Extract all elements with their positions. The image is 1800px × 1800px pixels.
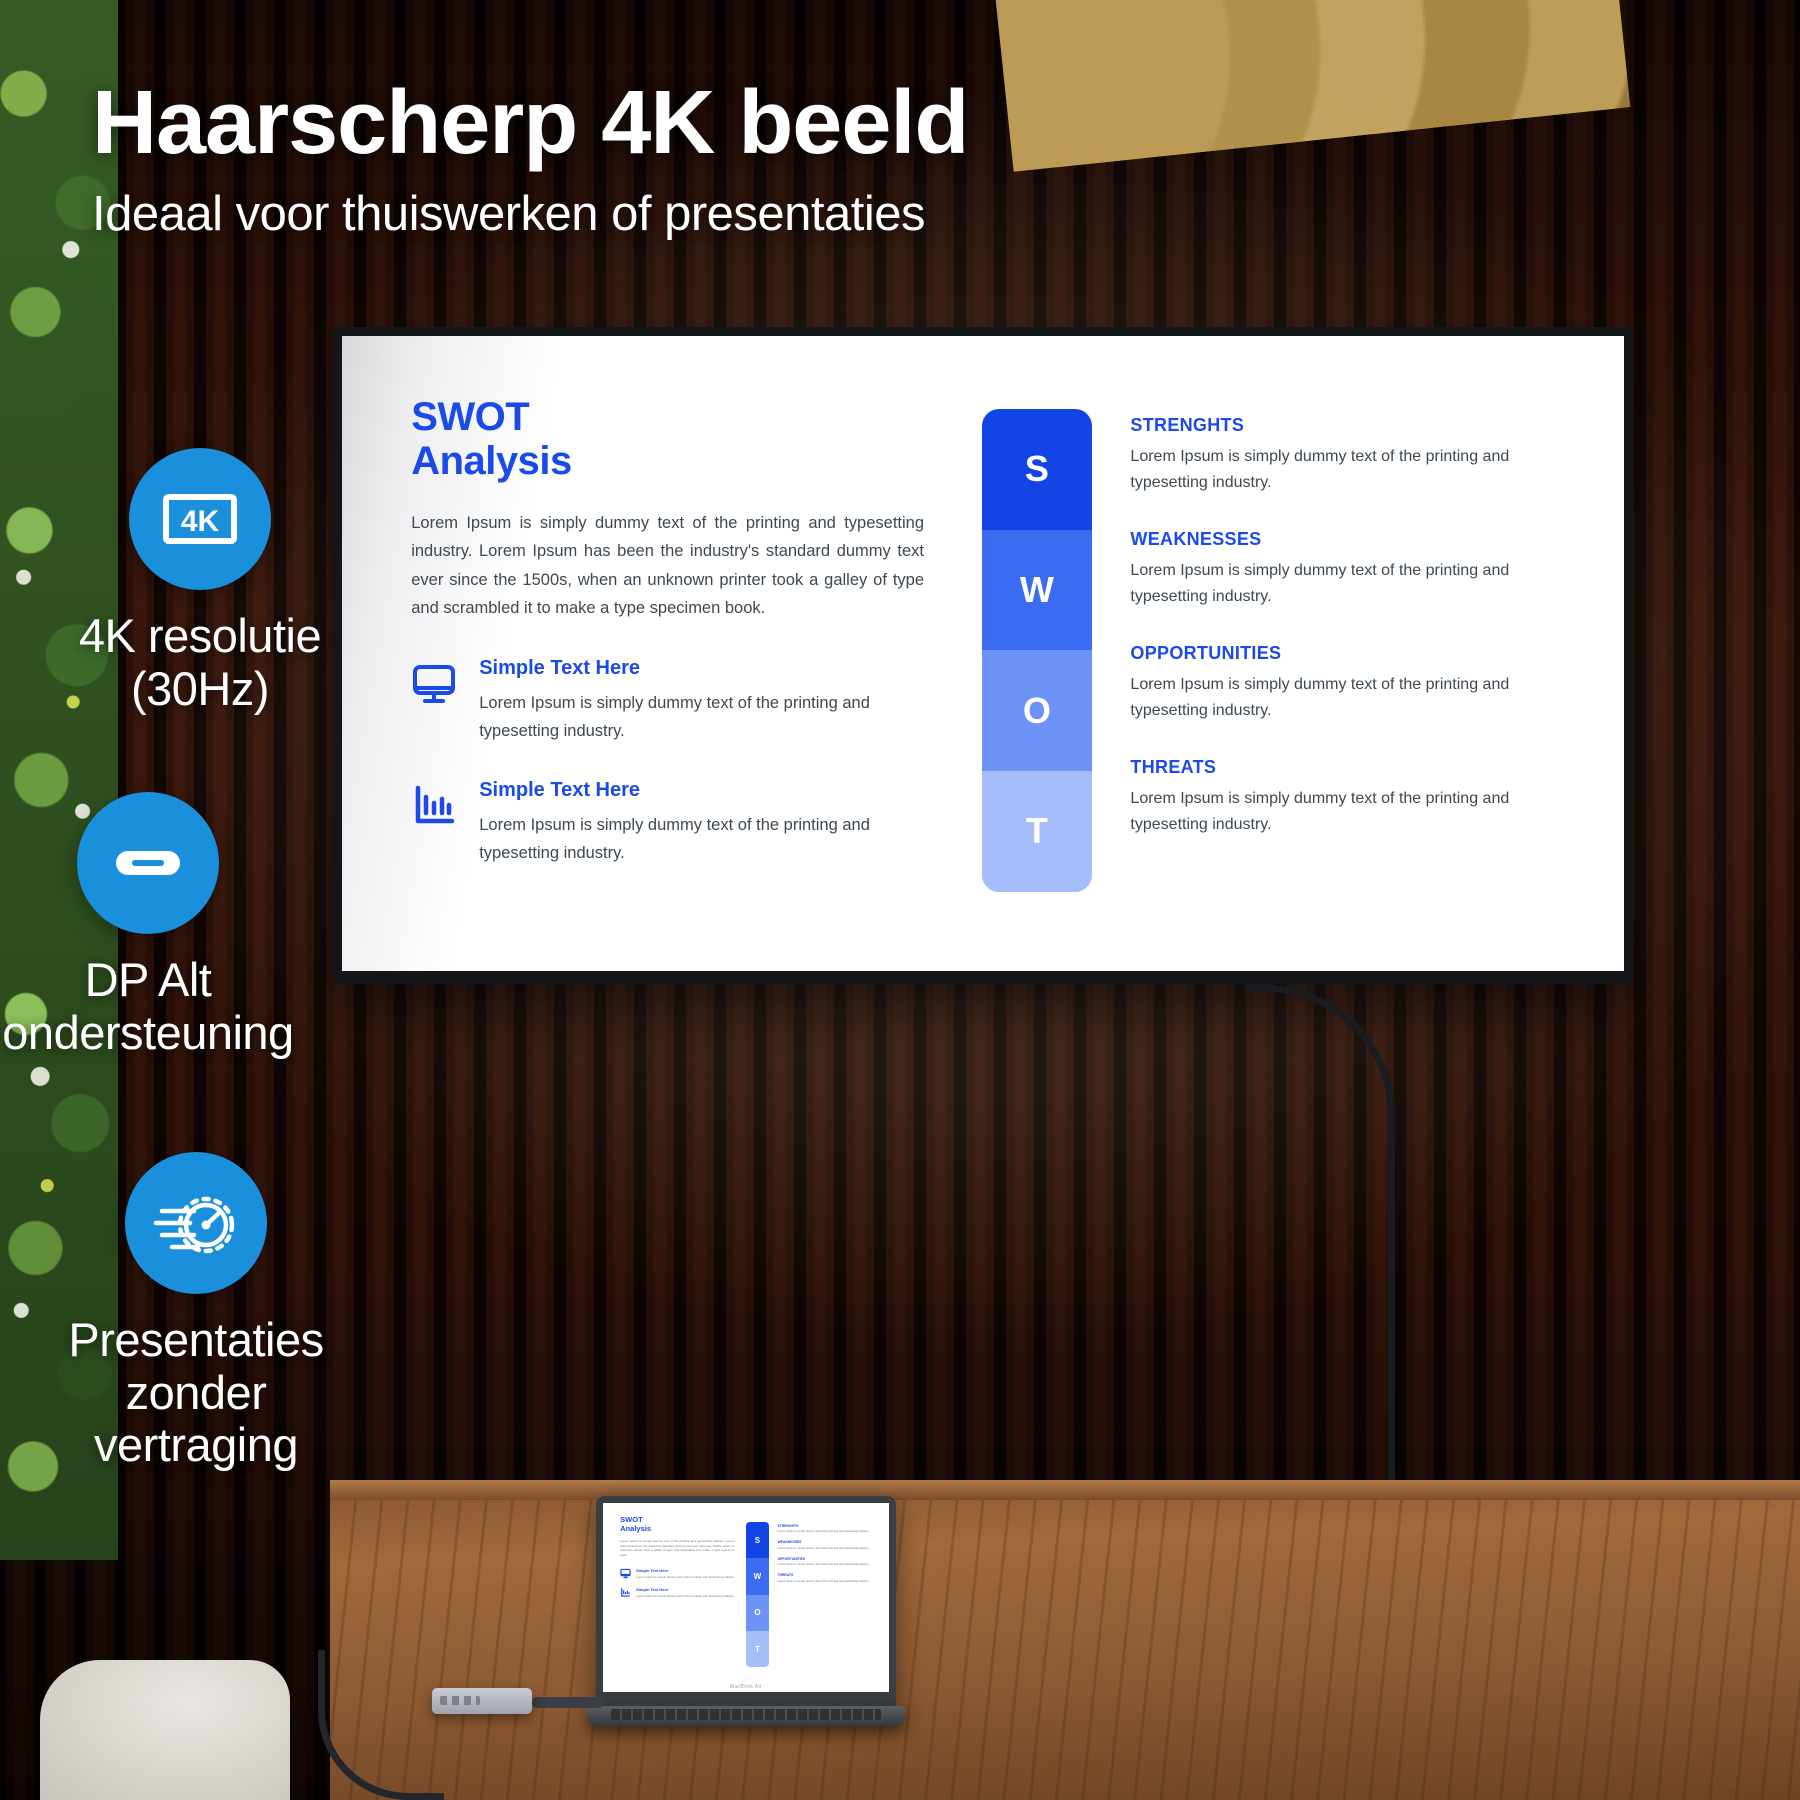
swot-item-strengths: STRENGHTS Lorem Ipsum is simply dummy te…	[1130, 415, 1553, 496]
adapter-ports	[440, 1696, 480, 1705]
laptop-brand-label: MacBook Air	[603, 1684, 889, 1690]
mini-feature-title: Simple Text Here	[636, 1587, 734, 1592]
swot-item-opportunities: OPPORTUNITIES Lorem Ipsum is simply dumm…	[1130, 643, 1553, 724]
swot-heading: WEAKNESSES	[1130, 529, 1553, 550]
mini-feature-title: Simple Text Here	[636, 1568, 734, 1573]
slide-feature-desc: Lorem Ipsum is simply dummy text of the …	[479, 812, 924, 867]
mini-slide-title: SWOT Analysis	[620, 1516, 734, 1533]
swot-tile-w: W	[982, 530, 1092, 651]
mini-swot-tile-s: S	[746, 1522, 769, 1558]
chair	[40, 1660, 290, 1800]
mini-feature-desc: Lorem Ipsum is simply dummy text of the …	[636, 1575, 734, 1579]
swot-body: Lorem Ipsum is simply dummy text of the …	[1130, 558, 1553, 610]
slide-feature-item: Simple Text Here Lorem Ipsum is simply d…	[411, 779, 924, 867]
slide-title-line1: SWOT	[411, 395, 529, 439]
feature-badge-circle: 4K	[129, 448, 271, 590]
swot-heading: STRENGHTS	[1130, 415, 1553, 436]
monitor-icon	[620, 1568, 631, 1579]
feature-badge-circle	[77, 792, 219, 934]
mini-swot-heading: THREATS	[777, 1573, 871, 1577]
slide-feature-text: Simple Text Here Lorem Ipsum is simply d…	[479, 779, 924, 867]
mini-title-line2: Analysis	[620, 1524, 651, 1533]
usb-c-hub-adapter	[432, 1688, 532, 1714]
monitor-icon	[411, 657, 459, 712]
slide-feature-item: Simple Text Here Lorem Ipsum is simply d…	[411, 657, 924, 745]
swot-items-list: STRENGHTS Lorem Ipsum is simply dummy te…	[1130, 415, 1553, 837]
swot-tile-t: T	[982, 771, 1092, 892]
mini-feature-desc: Lorem Ipsum is simply dummy text of the …	[636, 1594, 734, 1598]
feature-label: Presentatieszondervertraging	[0, 1314, 406, 1472]
laptop-base	[587, 1706, 905, 1726]
swot-letter-column: S W O T	[982, 409, 1092, 892]
slide-feature-text: Simple Text Here Lorem Ipsum is simply d…	[479, 657, 924, 745]
slide-left-column: SWOT Analysis Lorem Ipsum is simply dumm…	[411, 396, 924, 867]
slide-feature-title: Simple Text Here	[479, 657, 924, 680]
mini-swot-heading: WEAKNESSES	[777, 1540, 871, 1544]
mini-swot-item-opportunities: OPPORTUNITIES Lorem Ipsum is simply dumm…	[777, 1557, 871, 1567]
slide-feature-title: Simple Text Here	[479, 779, 924, 802]
swot-body: Lorem Ipsum is simply dummy text of the …	[1130, 444, 1553, 496]
swot-slide: SWOT Analysis Lorem Ipsum is simply dumm…	[342, 336, 1624, 971]
mini-swot-body: Lorem Ipsum is simply dummy text of the …	[777, 1546, 871, 1550]
laptop-lid: SWOT Analysis Lorem Ipsum is simply dumm…	[596, 1496, 896, 1706]
svg-text:4K: 4K	[181, 505, 220, 538]
feature-label: DP Altondersteuning	[0, 954, 358, 1059]
mini-slide-paragraph: Lorem Ipsum is simply dummy text of the …	[620, 1539, 734, 1558]
speedometer-icon	[150, 1177, 242, 1269]
mini-swot-body: Lorem Ipsum is simply dummy text of the …	[777, 1579, 871, 1583]
swot-heading: OPPORTUNITIES	[1130, 643, 1553, 664]
slide-feature-desc: Lorem Ipsum is simply dummy text of the …	[479, 690, 924, 745]
mini-swot-item-strengths: STRENGHTS Lorem Ipsum is simply dummy te…	[777, 1524, 871, 1534]
mini-swot-tile-t: T	[746, 1631, 769, 1667]
swot-tile-s: S	[982, 409, 1092, 530]
swot-item-weaknesses: WEAKNESSES Lorem Ipsum is simply dummy t…	[1130, 529, 1553, 610]
wall-cable	[1245, 985, 1395, 1505]
mini-swot-items-list: STRENGHTS Lorem Ipsum is simply dummy te…	[777, 1524, 871, 1583]
mini-swot-heading: STRENGHTS	[777, 1524, 871, 1528]
feature-4k-resolution: 4K 4K resolutie(30Hz)	[0, 448, 410, 715]
swot-body: Lorem Ipsum is simply dummy text of the …	[1130, 672, 1553, 724]
mini-swot-tile-w: W	[746, 1558, 769, 1594]
mini-swot-item-weaknesses: WEAKNESSES Lorem Ipsum is simply dummy t…	[777, 1540, 871, 1550]
feature-dp-alt: DP Altondersteuning	[0, 792, 358, 1059]
feature-low-latency: Presentatieszondervertraging	[0, 1152, 406, 1472]
bar-chart-icon	[620, 1587, 631, 1598]
mini-swot-item-threats: THREATS Lorem Ipsum is simply dummy text…	[777, 1573, 871, 1583]
mini-swot-heading: OPPORTUNITIES	[777, 1557, 871, 1561]
bar-chart-icon	[411, 779, 459, 834]
feature-label: 4K resolutie(30Hz)	[0, 610, 410, 715]
desk-surface	[330, 1482, 1800, 1800]
laptop-keyboard	[611, 1709, 881, 1720]
mini-feature-item: Simple Text Here Lorem Ipsum is simply d…	[620, 1587, 734, 1598]
mini-feature-item: Simple Text Here Lorem Ipsum is simply d…	[620, 1568, 734, 1579]
page-subheadline: Ideaal voor thuiswerken of presentaties	[92, 186, 1352, 242]
mini-swot-letter-column: S W O T	[746, 1522, 769, 1668]
mini-swot-tile-o: O	[746, 1595, 769, 1631]
page-headline: Haarscherp 4K beeld	[92, 78, 1352, 168]
slide-title: SWOT Analysis	[411, 396, 924, 482]
adapter-cable-tail	[532, 1697, 604, 1708]
laptop-screen: SWOT Analysis Lorem Ipsum is simply dumm…	[603, 1503, 889, 1692]
tv-screen: SWOT Analysis Lorem Ipsum is simply dumm…	[342, 336, 1624, 971]
swot-item-threats: THREATS Lorem Ipsum is simply dummy text…	[1130, 757, 1553, 838]
mini-swot-body: Lorem Ipsum is simply dummy text of the …	[777, 1529, 871, 1533]
headline-block: Haarscherp 4K beeld Ideaal voor thuiswer…	[92, 78, 1352, 242]
swot-heading: THREATS	[1130, 757, 1553, 778]
swot-tile-o: O	[982, 650, 1092, 771]
slide-title-line2: Analysis	[411, 439, 572, 483]
tv-monitor: SWOT Analysis Lorem Ipsum is simply dumm…	[333, 327, 1633, 984]
4k-badge-icon: 4K	[158, 477, 242, 561]
dp-alt-pill-icon	[106, 821, 190, 905]
mini-swot-body: Lorem Ipsum is simply dummy text of the …	[777, 1562, 871, 1566]
laptop: SWOT Analysis Lorem Ipsum is simply dumm…	[596, 1496, 896, 1726]
swot-body: Lorem Ipsum is simply dummy text of the …	[1130, 786, 1553, 838]
slide-paragraph: Lorem Ipsum is simply dummy text of the …	[411, 509, 924, 623]
feature-badge-circle	[125, 1152, 267, 1294]
desk-edge	[330, 1480, 1800, 1500]
